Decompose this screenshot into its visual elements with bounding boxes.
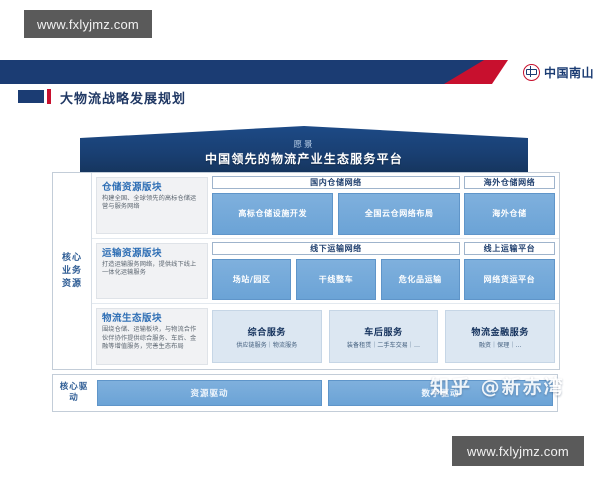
block-warehousing-desc: 构建全国、全球领先的高标仓储运营与服务网络 <box>102 195 202 211</box>
cell-aftermarket-services-title: 车后服务 <box>364 325 402 338</box>
group-online-transport-cells: 网络货运平台 <box>464 259 555 301</box>
group-overseas-warehouse-header: 海外仓储网络 <box>464 176 555 189</box>
cell-trunk-ftl[interactable]: 干线整车 <box>296 259 375 301</box>
band-ecosystem: 物流生态版块 围绕仓储、运输板块，与物流合作伙伴协作提供综合服务、车后、金融等增… <box>92 303 559 369</box>
title-red-bar-icon <box>47 89 51 104</box>
cell-logistics-finance-sub: 融资｜保理｜… <box>479 340 522 349</box>
cell-national-cloud-warehouse-layout[interactable]: 全国云仓网络布局 <box>338 193 459 235</box>
block-warehousing[interactable]: 仓储资源版块 构建全国、全球领先的高标仓储运营与服务网络 <box>96 177 208 234</box>
group-offline-transport-network: 线下运输网络 场站/园区 干线整车 危化品运输 <box>212 242 460 301</box>
core-business-bands: 仓储资源版块 构建全国、全球领先的高标仓储运营与服务网络 国内仓储网络 高标仓储… <box>92 173 559 369</box>
core-business-section: 核心业务资源 仓储资源版块 构建全国、全球领先的高标仓储运营与服务网络 国内仓储… <box>52 172 560 370</box>
header-band <box>0 60 600 84</box>
group-online-transport-platform: 线上运输平台 网络货运平台 <box>464 242 555 301</box>
cell-logistics-finance-title: 物流金融服务 <box>471 325 529 338</box>
group-offline-transport-header: 线下运输网络 <box>212 242 460 255</box>
group-offline-transport-cells: 场站/园区 干线整车 危化品运输 <box>212 259 460 301</box>
cell-network-freight-platform[interactable]: 网络货运平台 <box>464 259 555 301</box>
page-title: 大物流战略发展规划 <box>60 88 186 107</box>
block-transport[interactable]: 运输资源版块 打造运输服务网络，提供线下线上一体化运输服务 <box>96 243 208 300</box>
block-transport-title: 运输资源版块 <box>102 248 202 259</box>
group-overseas-warehouse-cells: 海外仓储 <box>464 193 555 235</box>
block-ecosystem-title: 物流生态版块 <box>102 313 202 324</box>
group-domestic-warehouse-header: 国内仓储网络 <box>212 176 460 189</box>
block-ecosystem-desc: 围绕仓储、运输板块，与物流合作伙伴协作提供综合服务、车后、金融等增值服务，完善生… <box>102 326 202 351</box>
block-transport-desc: 打造运输服务网络，提供线下线上一体化运输服务 <box>102 261 202 277</box>
brand-logo: 中国南山 <box>523 60 594 84</box>
core-drivers-label: 核心驱动 <box>57 382 91 404</box>
cell-aftermarket-services-sub: 装备租赁｜二手车交易｜… <box>347 340 420 349</box>
band-transport: 运输资源版块 打造运输服务网络，提供线下线上一体化运输服务 线下运输网络 场站/… <box>92 238 559 304</box>
cell-high-standard-warehouse-dev[interactable]: 高标仓储设施开发 <box>212 193 333 235</box>
block-warehousing-title: 仓储资源版块 <box>102 182 202 193</box>
driver-digital-bar[interactable]: 数字驱动 <box>328 380 553 406</box>
strategy-house-diagram: 愿景 中国领先的物流产业生态服务平台 核心业务资源 仓储资源版块 构建全国、全球… <box>52 126 558 414</box>
driver-resource-bar[interactable]: 资源驱动 <box>97 380 322 406</box>
nanshan-emblem-icon <box>523 64 540 81</box>
cell-hazardous-transport[interactable]: 危化品运输 <box>381 259 460 301</box>
group-domestic-warehouse-cells: 高标仓储设施开发 全国云仓网络布局 <box>212 193 460 235</box>
cell-logistics-finance-services[interactable]: 物流金融服务 融资｜保理｜… <box>445 310 555 363</box>
header-blue-stripe <box>0 60 510 84</box>
vision-statement: 中国领先的物流产业生态服务平台 <box>80 150 528 167</box>
band-transport-content: 线下运输网络 场站/园区 干线整车 危化品运输 线上运输平台 网络货运平台 <box>211 239 559 304</box>
band-warehousing: 仓储资源版块 构建全国、全球领先的高标仓储运营与服务网络 国内仓储网络 高标仓储… <box>92 173 559 238</box>
watermark-site-bottom: www.fxlyjmz.com <box>452 436 584 466</box>
core-business-side-label: 核心业务资源 <box>53 173 92 369</box>
slide-title-row: 大物流战略发展规划 <box>0 88 600 110</box>
cell-integrated-services-title: 综合服务 <box>248 325 286 338</box>
band-ecosystem-content: 综合服务 供应链服务｜物流服务 车后服务 装备租赁｜二手车交易｜… 物流金融服务… <box>211 304 559 369</box>
title-square-marker-icon <box>18 90 44 103</box>
core-business-side-label-text: 核心业务资源 <box>60 252 84 291</box>
cell-station-park[interactable]: 场站/园区 <box>212 259 291 301</box>
watermark-site-top: www.fxlyjmz.com <box>24 10 152 38</box>
slide-canvas: www.fxlyjmz.com 中国南山 大物流战略发展规划 愿景 中国领先的物… <box>0 0 600 480</box>
vision-label: 愿景 <box>80 138 528 150</box>
band-warehousing-content: 国内仓储网络 高标仓储设施开发 全国云仓网络布局 海外仓储网络 海外仓储 <box>211 173 559 238</box>
cell-overseas-warehouse[interactable]: 海外仓储 <box>464 193 555 235</box>
vision-roof: 愿景 中国领先的物流产业生态服务平台 <box>80 126 528 172</box>
group-online-transport-header: 线上运输平台 <box>464 242 555 255</box>
group-overseas-warehouse-network: 海外仓储网络 海外仓储 <box>464 176 555 235</box>
block-ecosystem[interactable]: 物流生态版块 围绕仓储、运输板块，与物流合作伙伴协作提供综合服务、车后、金融等增… <box>96 308 208 365</box>
core-drivers-section: 核心驱动 资源驱动 数字驱动 <box>52 374 558 412</box>
cell-integrated-services-sub: 供应链服务｜物流服务 <box>236 340 297 349</box>
cell-aftermarket-services[interactable]: 车后服务 装备租赁｜二手车交易｜… <box>329 310 439 363</box>
cell-integrated-services[interactable]: 综合服务 供应链服务｜物流服务 <box>212 310 322 363</box>
brand-name: 中国南山 <box>544 64 594 81</box>
group-domestic-warehouse-network: 国内仓储网络 高标仓储设施开发 全国云仓网络布局 <box>212 176 460 235</box>
